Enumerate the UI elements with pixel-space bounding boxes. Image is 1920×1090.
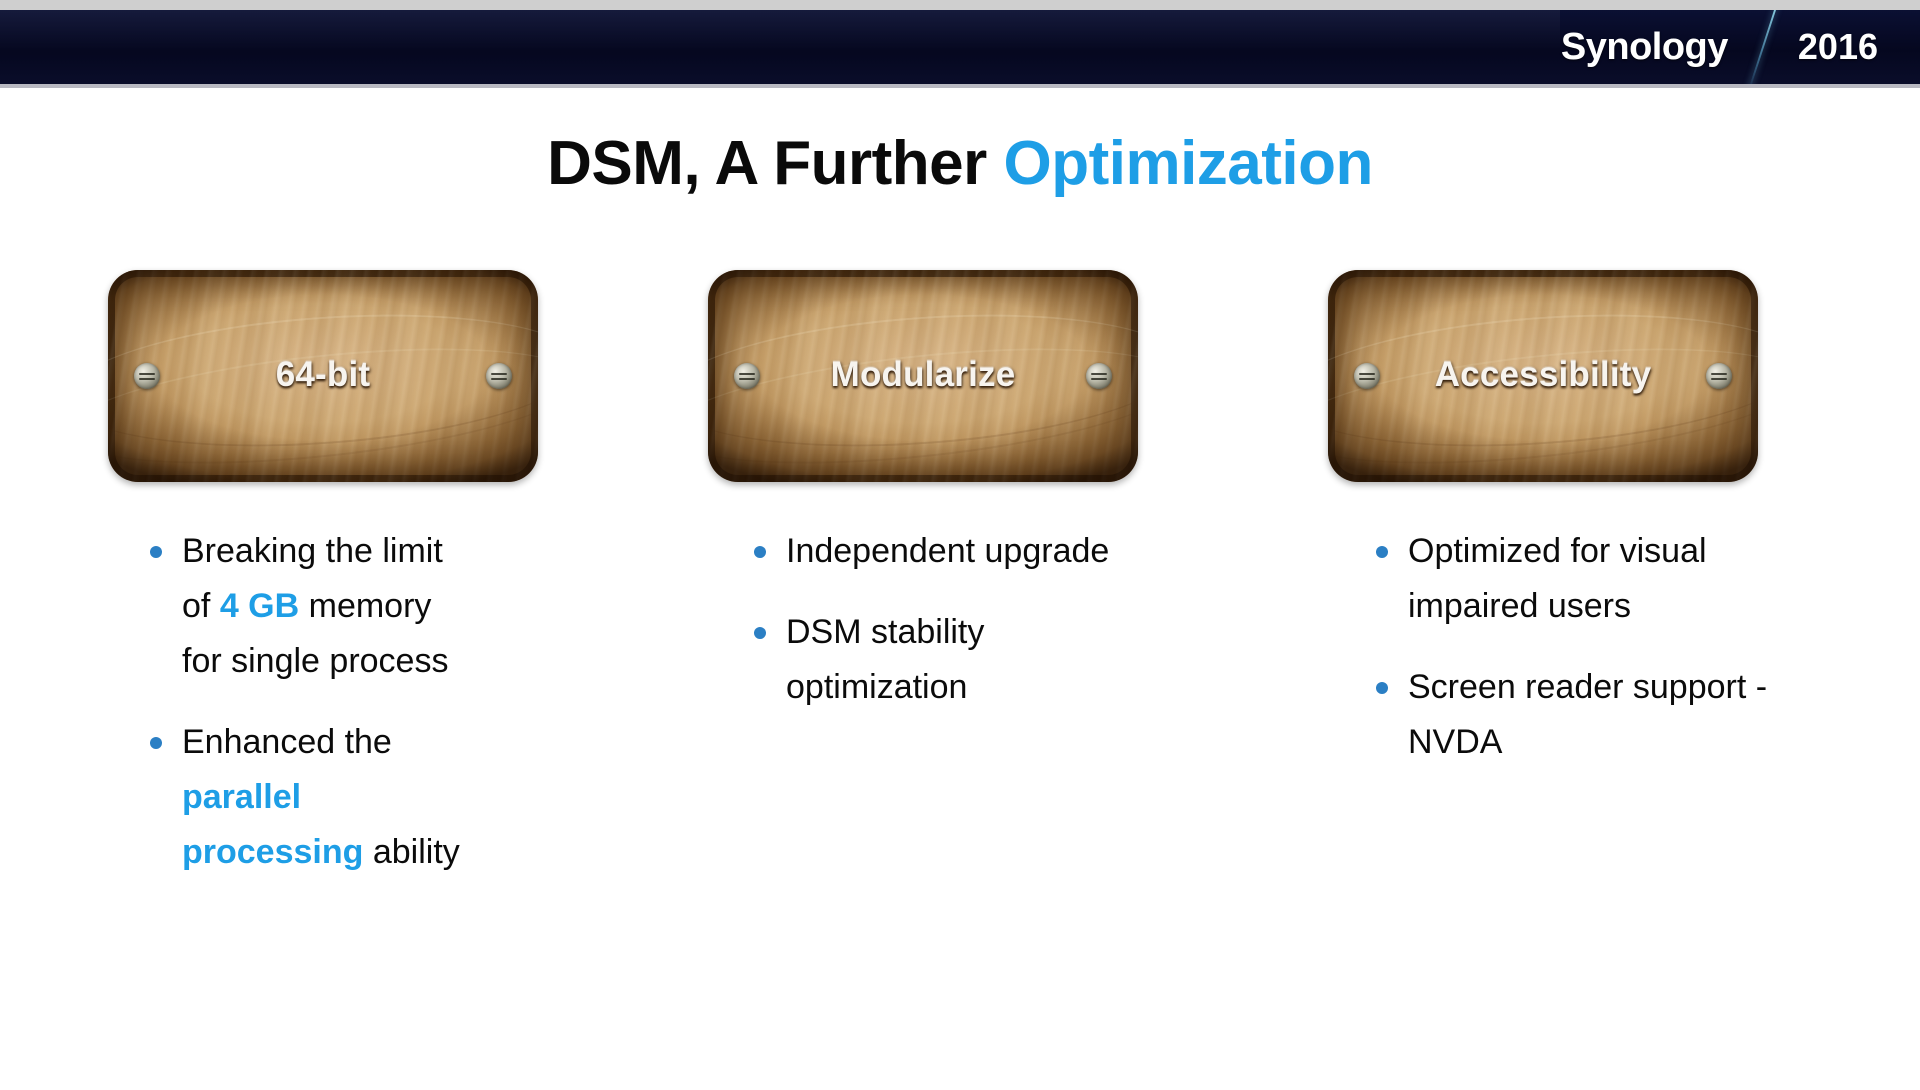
page-title-dark: DSM, A Further: [547, 129, 1003, 198]
wooden-plaque: 64-bit: [108, 270, 538, 482]
bullet-item: Independent upgrade: [752, 524, 1160, 579]
column-modularize: Modularize Independent upgradeDSM stabil…: [640, 262, 1280, 906]
brand-group: Synology 2016: [1561, 10, 1878, 84]
bullet-item: Optimized for visual impaired users: [1374, 524, 1780, 634]
wooden-plaque: Accessibility: [1328, 270, 1758, 482]
bullet-item: Enhanced the parallel processing ability: [148, 715, 470, 880]
plaque-label: Modularize: [708, 355, 1138, 395]
bullet-list: Independent upgradeDSM stability optimiz…: [640, 524, 1160, 715]
bullet-text: DSM stability optimization: [786, 613, 984, 706]
brand-logo-text: Synology: [1561, 28, 1762, 66]
brand-year: 2016: [1764, 29, 1878, 65]
bullet-item: DSM stability optimization: [752, 605, 1160, 715]
bullet-item: Breaking the limit of 4 GB memory for si…: [148, 524, 470, 689]
plaque-wrap: Modularize: [640, 262, 1280, 490]
plaque-label: 64-bit: [108, 355, 538, 395]
column-64-bit: 64-bit Breaking the limit of 4 GB memory…: [0, 262, 640, 906]
bullet-text: Screen reader support - NVDA: [1408, 668, 1767, 761]
plaque-label: Accessibility: [1328, 355, 1758, 395]
bullet-text: Optimized for visual impaired users: [1408, 532, 1707, 625]
header-bar: Synology 2016: [0, 0, 1920, 88]
bullet-highlight: parallel processing: [182, 778, 363, 871]
wooden-plaque: Modularize: [708, 270, 1138, 482]
content-columns: 64-bit Breaking the limit of 4 GB memory…: [0, 262, 1920, 906]
page-title: DSM, A Further Optimization: [0, 131, 1920, 196]
bullet-highlight: 4 GB: [220, 587, 299, 625]
bullet-text: Enhanced the: [182, 723, 392, 761]
bullet-text: ability: [363, 833, 459, 871]
slide: Synology 2016 DSM, A Further Optimizatio…: [0, 0, 1920, 1090]
column-accessibility: Accessibility Optimized for visual impai…: [1280, 262, 1920, 906]
bullet-list: Breaking the limit of 4 GB memory for si…: [0, 524, 470, 880]
bullet-item: Screen reader support - NVDA: [1374, 660, 1780, 770]
header-sheen: [0, 10, 1560, 84]
page-title-accent: Optimization: [1003, 129, 1372, 198]
plaque-wrap: 64-bit: [0, 262, 640, 490]
plaque-wrap: Accessibility: [1280, 262, 1920, 490]
bullet-text: Independent upgrade: [786, 532, 1109, 570]
bullet-list: Optimized for visual impaired usersScree…: [1280, 524, 1780, 770]
